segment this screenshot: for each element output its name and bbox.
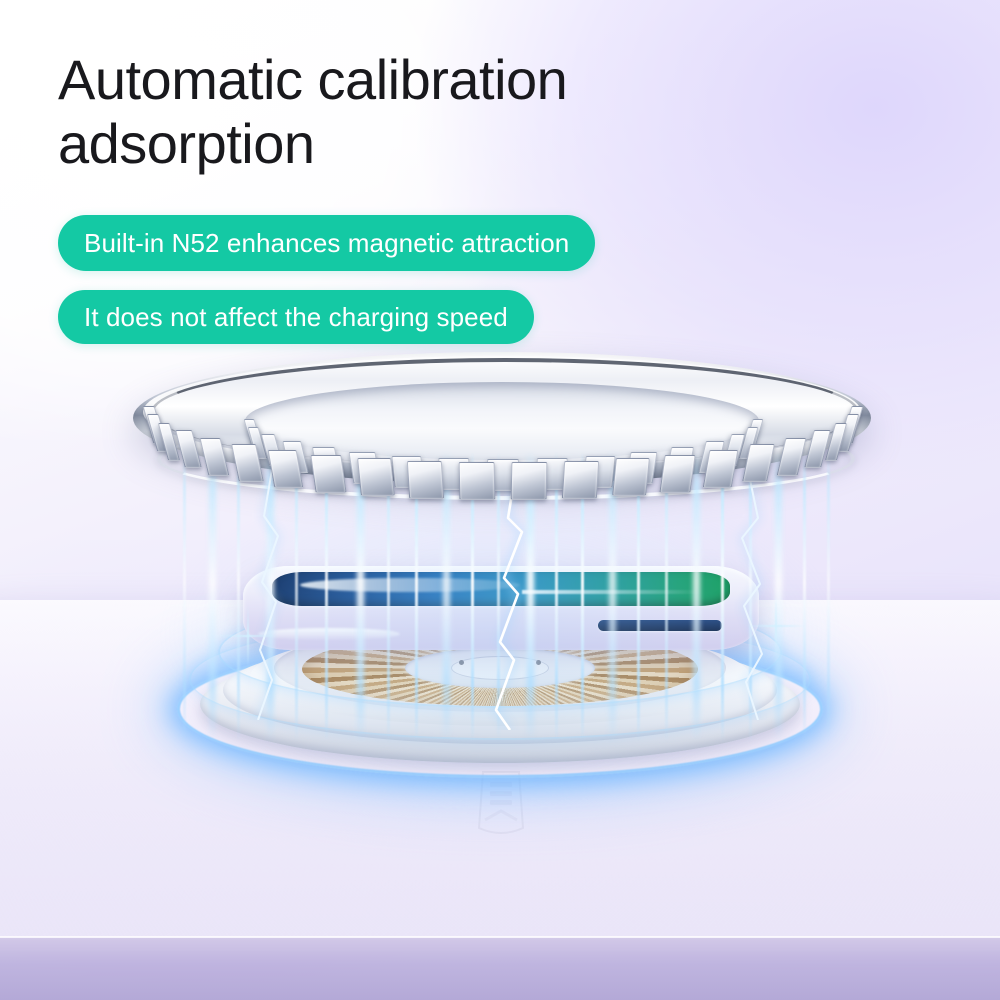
magnet-segment <box>612 458 649 496</box>
brand-watermark <box>471 768 531 840</box>
screen-gloss-highlight <box>300 578 520 592</box>
product-feature-poster: Automatic calibration adsorption Built-i… <box>0 0 1000 1000</box>
phone-bottom-lip <box>258 628 400 640</box>
coil-terminal-right <box>536 660 541 665</box>
feature-pill-2: It does not affect the charging speed <box>58 290 534 344</box>
magnet-segment <box>310 455 347 493</box>
feature-pill-1: Built-in N52 enhances magnetic attractio… <box>58 215 595 271</box>
coil-terminal-left <box>459 660 464 665</box>
screen-light-streak <box>522 590 702 594</box>
floor-band <box>0 938 1000 1000</box>
page-title: Automatic calibration adsorption <box>58 48 818 177</box>
magnet-segment <box>659 455 696 493</box>
magnet-segment <box>562 461 599 499</box>
magnet-segment <box>407 461 444 499</box>
magnet-segment <box>357 458 394 496</box>
coil-center-hub <box>451 656 549 680</box>
feature-pill-1-label: Built-in N52 enhances magnetic attractio… <box>84 228 569 259</box>
magnet-ring <box>133 352 871 502</box>
magnet-segment <box>511 462 548 500</box>
phone-side-slot <box>598 620 722 631</box>
phone-screen <box>272 572 730 606</box>
magnet-segment <box>459 462 496 500</box>
feature-pill-2-label: It does not affect the charging speed <box>84 302 508 333</box>
